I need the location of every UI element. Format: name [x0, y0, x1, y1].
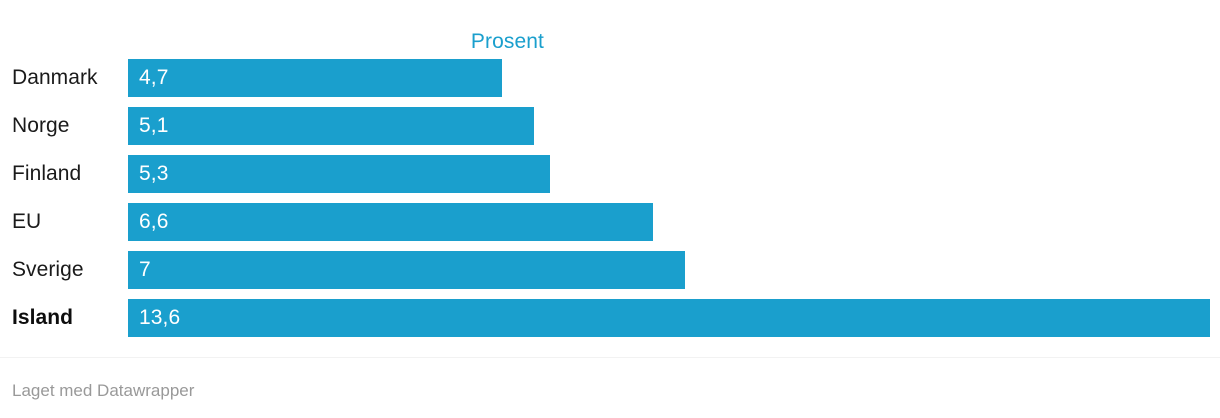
bar-value-label: 13,6 — [128, 307, 180, 329]
bar-track: 7 — [128, 251, 1220, 289]
bar-track: 5,3 — [128, 155, 1220, 193]
column-header-prosent: Prosent — [471, 30, 544, 54]
category-label: Norge — [12, 107, 69, 145]
category-label: Sverige — [12, 251, 84, 289]
bar-row: Sverige7 — [0, 251, 1220, 289]
chart-header: Prosent — [0, 26, 544, 54]
bar-value-label: 7 — [128, 259, 151, 281]
bar-row: Island13,6 — [0, 299, 1220, 337]
bar[interactable]: 6,6 — [128, 203, 653, 241]
bar-row: EU6,6 — [0, 203, 1220, 241]
bar[interactable]: 5,3 — [128, 155, 550, 193]
bar-track: 6,6 — [128, 203, 1220, 241]
bar-rows: Danmark4,7Norge5,1Finland5,3EU6,6Sverige… — [0, 59, 1220, 347]
bar-chart: Prosent Danmark4,7Norge5,1Finland5,3EU6,… — [0, 0, 1220, 418]
category-label: Finland — [12, 155, 81, 193]
footer-divider — [0, 357, 1220, 358]
bar-row: Finland5,3 — [0, 155, 1220, 193]
category-label: Danmark — [12, 59, 98, 97]
bar-track: 13,6 — [128, 299, 1220, 337]
bar-value-label: 4,7 — [128, 67, 169, 89]
category-label: Island — [12, 299, 73, 337]
category-label: EU — [12, 203, 41, 241]
bar[interactable]: 13,6 — [128, 299, 1210, 337]
bar[interactable]: 4,7 — [128, 59, 502, 97]
bar-row: Norge5,1 — [0, 107, 1220, 145]
bar-track: 5,1 — [128, 107, 1220, 145]
bar-value-label: 5,1 — [128, 115, 169, 137]
bar-value-label: 5,3 — [128, 163, 169, 185]
bar-track: 4,7 — [128, 59, 1220, 97]
bar-row: Danmark4,7 — [0, 59, 1220, 97]
datawrapper-credit: Laget med Datawrapper — [12, 381, 194, 401]
bar[interactable]: 7 — [128, 251, 685, 289]
bar-value-label: 6,6 — [128, 211, 169, 233]
bar[interactable]: 5,1 — [128, 107, 534, 145]
